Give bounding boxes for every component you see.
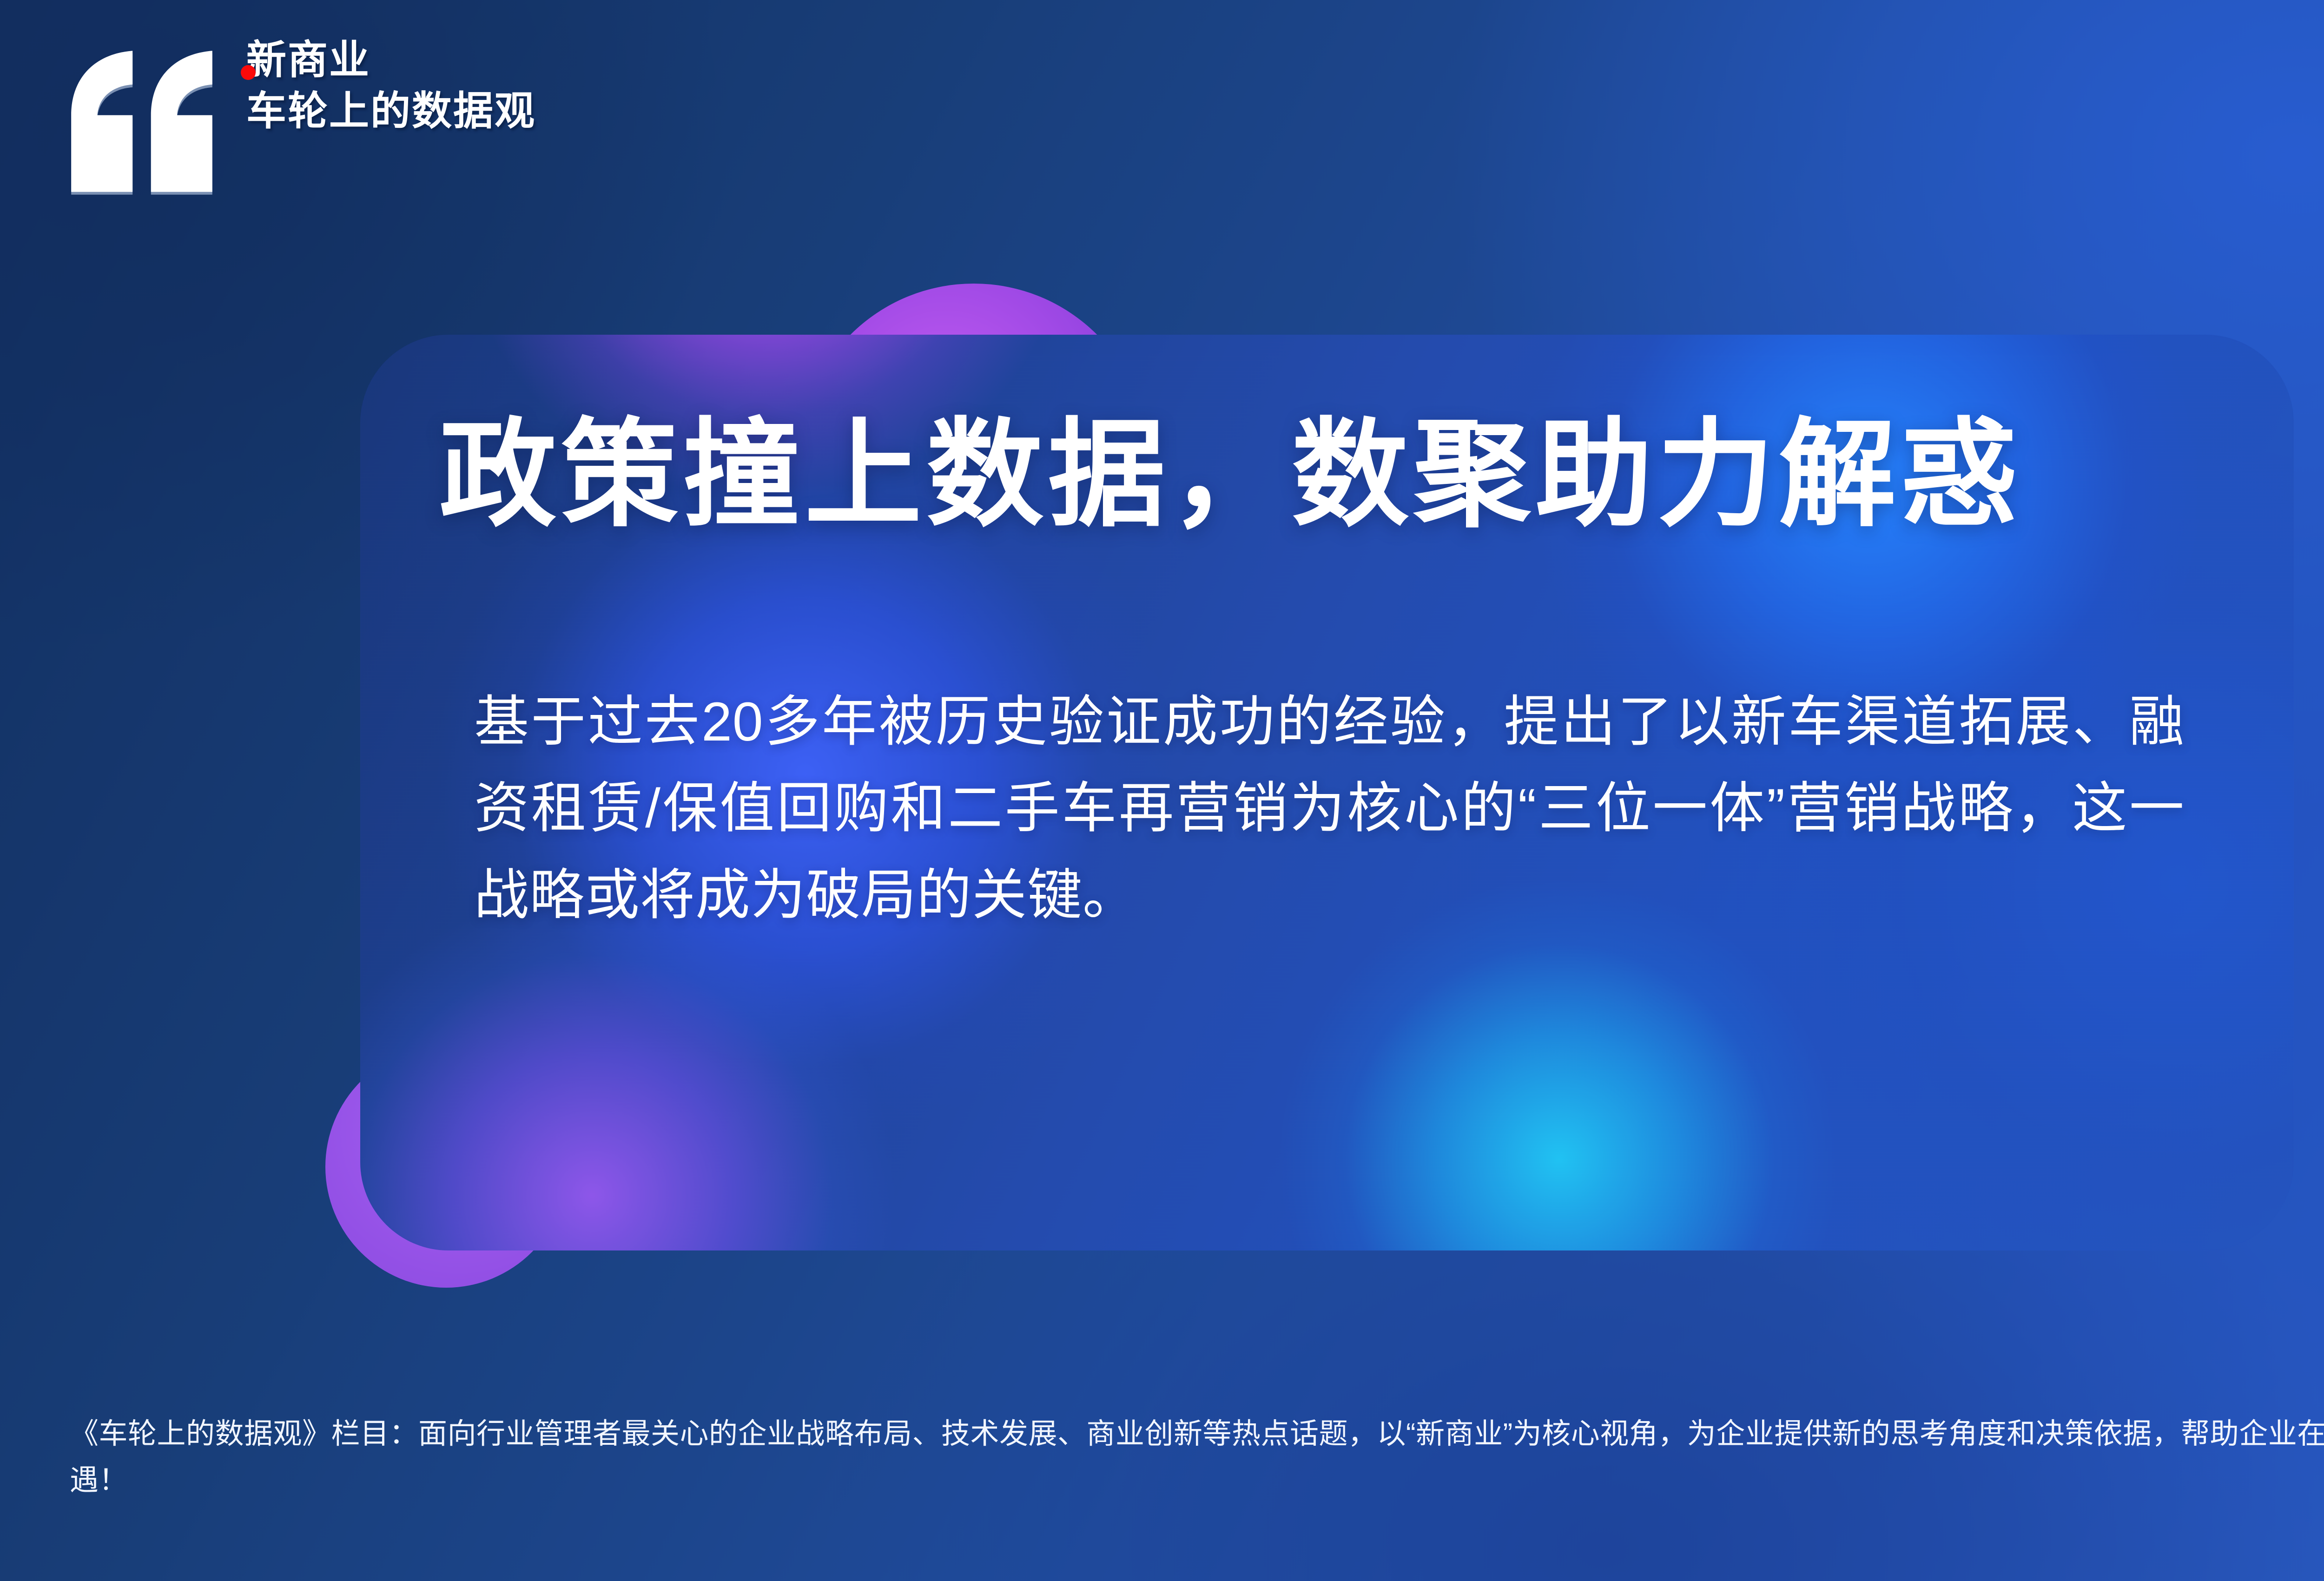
footer-description: 《车轮上的数据观》栏目：面向行业管理者最关心的企业战略布局、技术发展、商业创新等… [70,1411,2324,1504]
content-card: 政策撞上数据，数聚助力解惑 基于过去20多年被历史验证成功的经验，提出了以新车渠… [360,335,2294,1250]
card-paragraph: 基于过去20多年被历史验证成功的经验，提出了以新车渠道拓展、融资租赁/保值回购和… [474,679,2185,939]
brand-name-line-1: 新商业 [246,34,536,86]
brand-logo-text: 新商业 车轮上的数据观 [246,33,536,137]
page-title: 政策撞上数据，数聚助力解惑 [439,414,2022,537]
brand-logo: 新商业 车轮上的数据观 [65,33,536,198]
brand-name-line-2: 车轮上的数据观 [246,86,536,137]
footer-description-label: 《车轮上的数据观》栏目：面向行业管理者最关心的企业战略布局、技术发展、商业创新等… [70,1418,2324,1496]
brand-name-line-1-label: 新商业 [246,38,370,82]
red-dot-accent-icon [241,65,256,80]
double-quote-icon [65,45,218,198]
